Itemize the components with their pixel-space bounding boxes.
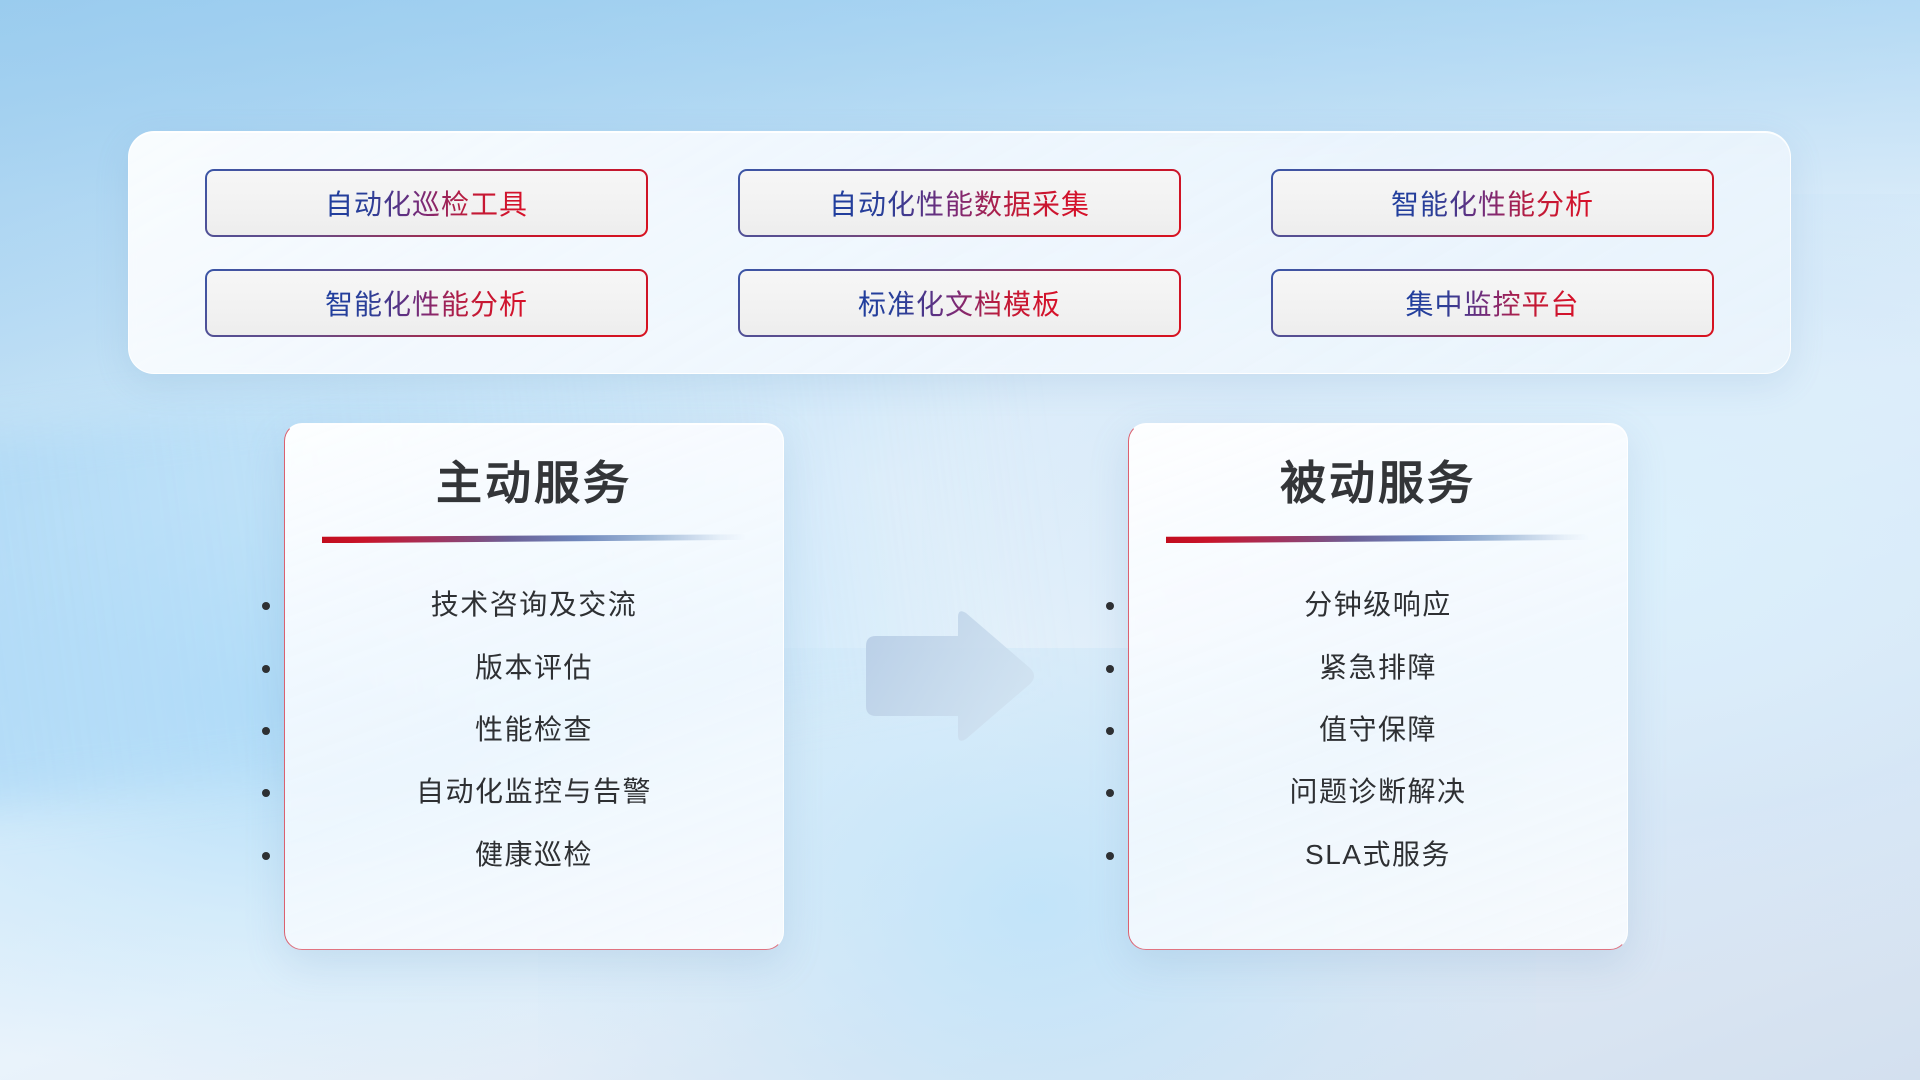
capability-pill-surface: 智能化性能分析 <box>207 271 646 335</box>
capability-pill-label: 自动化性能数据采集 <box>829 183 1090 223</box>
capability-pill-label: 智能化性能分析 <box>1391 183 1594 223</box>
capability-pill-0[interactable]: 自动化巡检工具 <box>205 169 648 237</box>
capability-pill-panel: 自动化巡检工具 自动化性能数据采集 智能化性能分析 智能化性能分析 标准化文档模… <box>128 131 1791 374</box>
list-item[interactable]: 值守保障 <box>1129 712 1627 748</box>
capability-pill-grid: 自动化巡检工具 自动化性能数据采集 智能化性能分析 智能化性能分析 标准化文档模… <box>129 169 1790 337</box>
proactive-service-list: 技术咨询及交流 版本评估 性能检查 自动化监控与告警 健康巡检 <box>285 587 783 873</box>
list-item[interactable]: 紧急排障 <box>1129 650 1627 686</box>
list-item[interactable]: 性能检查 <box>285 712 783 748</box>
capability-pill-label: 智能化性能分析 <box>325 283 528 323</box>
capability-pill-label: 自动化巡检工具 <box>325 183 528 223</box>
proactive-service-card[interactable]: 主动服务 技术咨询及交流 版本评估 性能检查 自动化监控与告警 健康巡检 <box>284 423 784 950</box>
capability-pill-surface: 智能化性能分析 <box>1273 171 1712 235</box>
capability-pill-label: 集中监控平台 <box>1405 283 1579 323</box>
reactive-card-divider <box>1166 534 1590 543</box>
reactive-service-list: 分钟级响应 紧急排障 值守保障 问题诊断解决 SLA式服务 <box>1129 587 1627 873</box>
capability-pill-5[interactable]: 集中监控平台 <box>1271 269 1714 337</box>
list-item[interactable]: 分钟级响应 <box>1129 587 1627 623</box>
capability-pill-label: 标准化文档模板 <box>858 283 1061 323</box>
list-item[interactable]: 自动化监控与告警 <box>285 774 783 810</box>
reactive-card-title: 被动服务 <box>1129 456 1627 510</box>
capability-pill-surface: 标准化文档模板 <box>740 271 1179 335</box>
capability-pill-surface: 集中监控平台 <box>1273 271 1712 335</box>
capability-pill-surface: 自动化巡检工具 <box>207 171 646 235</box>
list-item[interactable]: 健康巡检 <box>285 837 783 873</box>
proactive-card-title: 主动服务 <box>285 456 783 510</box>
list-item[interactable]: 问题诊断解决 <box>1129 774 1627 810</box>
list-item[interactable]: 版本评估 <box>285 650 783 686</box>
list-item[interactable]: 技术咨询及交流 <box>285 587 783 623</box>
capability-pill-1[interactable]: 自动化性能数据采集 <box>738 169 1181 237</box>
capability-pill-2[interactable]: 智能化性能分析 <box>1271 169 1714 237</box>
arrow-right-icon <box>862 608 1036 744</box>
proactive-card-divider <box>322 534 746 543</box>
capability-pill-4[interactable]: 标准化文档模板 <box>738 269 1181 337</box>
capability-pill-surface: 自动化性能数据采集 <box>740 171 1179 235</box>
list-item[interactable]: SLA式服务 <box>1129 837 1627 873</box>
capability-pill-3[interactable]: 智能化性能分析 <box>205 269 648 337</box>
reactive-service-card[interactable]: 被动服务 分钟级响应 紧急排障 值守保障 问题诊断解决 SLA式服务 <box>1128 423 1628 950</box>
